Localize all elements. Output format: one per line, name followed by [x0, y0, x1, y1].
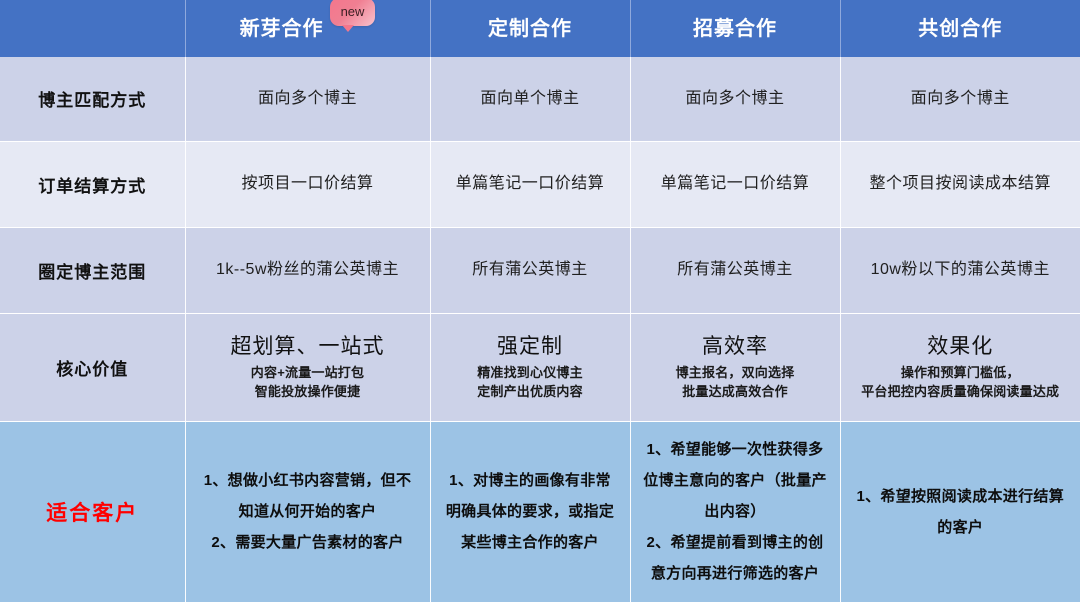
header-label-xinya: 新芽合作: [240, 16, 324, 42]
header-cell-dingzhi[interactable]: 定制合作: [430, 0, 630, 57]
table-cell: 效果化 操作和预算门槛低， 平台把控内容质量确保阅读量达成: [840, 313, 1080, 421]
table-row: 订单结算方式 按项目一口价结算 单篇笔记一口价结算 单篇笔记一口价结算 整个项目…: [0, 141, 1080, 227]
list-item: 1、对博主的画像有非常: [441, 465, 620, 496]
value-subline: 批量达成高效合作: [631, 382, 840, 401]
cell-text: 整个项目按阅读成本结算: [841, 173, 1080, 195]
value-title: 超划算、一站式: [186, 333, 430, 361]
header-cell-xinya[interactable]: 新芽合作 new: [185, 0, 430, 57]
value-title: 高效率: [631, 333, 840, 361]
table-cell: 1k--5w粉丝的蒲公英博主: [185, 227, 430, 313]
table-row: 博主匹配方式 面向多个博主 面向单个博主 面向多个博主 面向多个博主: [0, 57, 1080, 141]
cell-text: 面向单个博主: [431, 88, 630, 110]
table-cell: 面向多个博主: [185, 57, 430, 141]
row-label-dingdan-jiesuan: 订单结算方式: [0, 141, 185, 227]
customer-list: 1、对博主的画像有非常 明确具体的要求，或指定 某些博主合作的客户: [431, 465, 630, 558]
list-item: 2、希望提前看到博主的创: [641, 527, 830, 558]
table-cell: 面向多个博主: [840, 57, 1080, 141]
table-cell: 面向多个博主: [630, 57, 840, 141]
table-cell: 1、希望按照阅读成本进行结算 的客户: [840, 421, 1080, 602]
cell-text: 面向多个博主: [186, 88, 430, 110]
cell-text: 面向多个博主: [841, 88, 1080, 110]
value-subline: 内容+流量一站打包: [186, 363, 430, 382]
header-label-dingzhi: 定制合作: [488, 18, 572, 40]
cell-text: 10w粉以下的蒲公英博主: [841, 259, 1080, 281]
table-cell: 所有蒲公英博主: [430, 227, 630, 313]
cell-text: 按项目一口价结算: [186, 173, 430, 195]
header-cell-blank: [0, 0, 185, 57]
list-item: 1、希望能够一次性获得多: [641, 434, 830, 465]
header-cell-zhaomu[interactable]: 招募合作: [630, 0, 840, 57]
list-item: 知道从何开始的客户: [196, 496, 420, 527]
value-subline: 平台把控内容质量确保阅读量达成: [841, 382, 1080, 401]
row-label-hexin-jiazhi: 核心价值: [0, 313, 185, 421]
header-inner-xinya: 新芽合作 new: [240, 16, 376, 42]
table-body: 博主匹配方式 面向多个博主 面向单个博主 面向多个博主 面向多个博主 订单结算方…: [0, 57, 1080, 602]
header-label-zhaomu: 招募合作: [693, 18, 777, 40]
table-row: 适合客户 1、想做小红书内容营销，但不 知道从何开始的客户 2、需要大量广告素材…: [0, 421, 1080, 602]
cell-text: 所有蒲公英博主: [431, 259, 630, 281]
row-label-shihe-kehu: 适合客户: [0, 421, 185, 602]
table-cell: 按项目一口价结算: [185, 141, 430, 227]
table-cell: 整个项目按阅读成本结算: [840, 141, 1080, 227]
list-item: 1、想做小红书内容营销，但不: [196, 465, 420, 496]
list-item: 某些博主合作的客户: [441, 527, 620, 558]
value-subline: 定制产出优质内容: [431, 382, 630, 401]
table-cell: 10w粉以下的蒲公英博主: [840, 227, 1080, 313]
list-item: 明确具体的要求，或指定: [441, 496, 620, 527]
header-label-gongchuang: 共创合作: [918, 18, 1002, 40]
table-cell: 所有蒲公英博主: [630, 227, 840, 313]
customer-list: 1、希望按照阅读成本进行结算 的客户: [841, 481, 1080, 543]
list-item: 2、需要大量广告素材的客户: [196, 527, 420, 558]
value-subline: 精准找到心仪博主: [431, 363, 630, 382]
table-cell: 超划算、一站式 内容+流量一站打包 智能投放操作便捷: [185, 313, 430, 421]
value-title: 强定制: [431, 333, 630, 361]
value-subline: 操作和预算门槛低，: [841, 363, 1080, 382]
list-item: 位博主意向的客户（批量产: [641, 465, 830, 496]
cell-text: 1k--5w粉丝的蒲公英博主: [186, 259, 430, 281]
table-cell: 强定制 精准找到心仪博主 定制产出优质内容: [430, 313, 630, 421]
comparison-table-page: 新芽合作 new 定制合作 招募合作 共创合作 博主匹配方式 面向多个博: [0, 0, 1080, 602]
cell-text: 面向多个博主: [631, 88, 840, 110]
cell-text: 单篇笔记一口价结算: [431, 173, 630, 195]
list-item: 1、希望按照阅读成本进行结算: [851, 481, 1071, 512]
table-cell: 1、想做小红书内容营销，但不 知道从何开始的客户 2、需要大量广告素材的客户: [185, 421, 430, 602]
header-cell-gongchuang[interactable]: 共创合作: [840, 0, 1080, 57]
table-header-row: 新芽合作 new 定制合作 招募合作 共创合作: [0, 0, 1080, 57]
value-title: 效果化: [841, 333, 1080, 361]
table-cell: 单篇笔记一口价结算: [630, 141, 840, 227]
table-cell: 高效率 博主报名，双向选择 批量达成高效合作: [630, 313, 840, 421]
table-row: 核心价值 超划算、一站式 内容+流量一站打包 智能投放操作便捷 强定制 精准找到…: [0, 313, 1080, 421]
new-badge: new: [330, 0, 376, 26]
table-cell: 单篇笔记一口价结算: [430, 141, 630, 227]
table-cell: 1、对博主的画像有非常 明确具体的要求，或指定 某些博主合作的客户: [430, 421, 630, 602]
list-item: 的客户: [851, 512, 1071, 543]
list-item: 意方向再进行筛选的客户: [641, 558, 830, 589]
cooperation-comparison-table: 新芽合作 new 定制合作 招募合作 共创合作 博主匹配方式 面向多个博: [0, 0, 1080, 602]
row-label-boszhu-pipei: 博主匹配方式: [0, 57, 185, 141]
cell-text: 所有蒲公英博主: [631, 259, 840, 281]
table-row: 圈定博主范围 1k--5w粉丝的蒲公英博主 所有蒲公英博主 所有蒲公英博主 10…: [0, 227, 1080, 313]
cell-text: 单篇笔记一口价结算: [631, 173, 840, 195]
row-label-quanding-fanwei: 圈定博主范围: [0, 227, 185, 313]
list-item: 出内容）: [641, 496, 830, 527]
customer-list: 1、想做小红书内容营销，但不 知道从何开始的客户 2、需要大量广告素材的客户: [186, 465, 430, 558]
table-cell: 1、希望能够一次性获得多 位博主意向的客户（批量产 出内容） 2、希望提前看到博…: [630, 421, 840, 602]
value-subline: 智能投放操作便捷: [186, 382, 430, 401]
value-subline: 博主报名，双向选择: [631, 363, 840, 382]
customer-list: 1、希望能够一次性获得多 位博主意向的客户（批量产 出内容） 2、希望提前看到博…: [631, 434, 840, 589]
table-cell: 面向单个博主: [430, 57, 630, 141]
